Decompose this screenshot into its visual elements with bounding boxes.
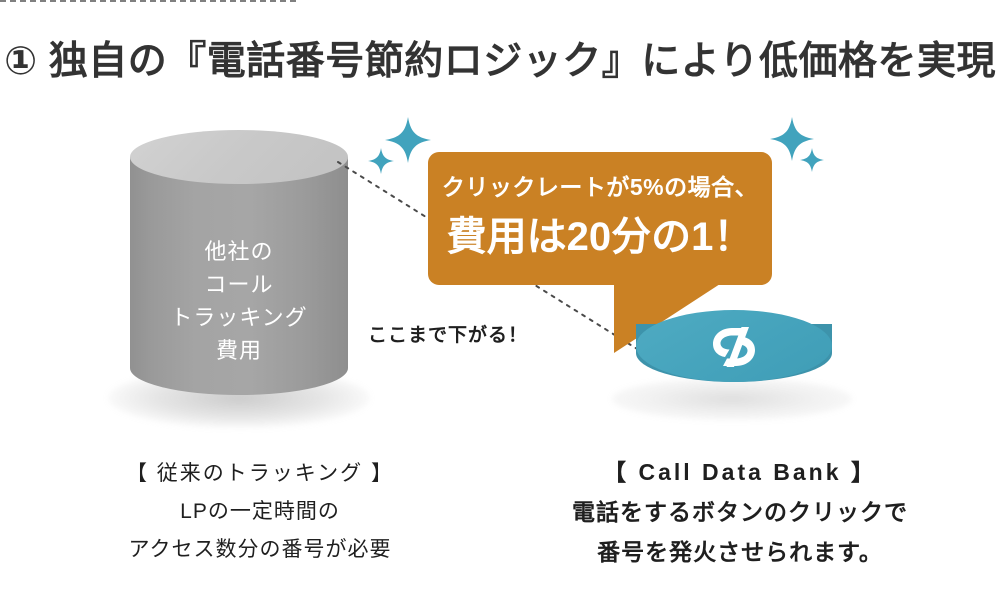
caption-right-line-1: 電話をするボタンのクリックで <box>530 492 950 532</box>
caption-left-line-1: LPの一定時間の <box>50 493 470 531</box>
cylinder-label-line-3: トラッキング <box>130 301 348 334</box>
cylinder-label-line-1: 他社の <box>130 235 348 268</box>
caption-right-line-2: 番号を発火させられます。 <box>530 532 950 572</box>
speech-bubble-line-1: クリックレートが5%の場合、 <box>428 168 772 202</box>
caption-left-head: 【 従来のトラッキング 】 <box>50 455 470 493</box>
call-data-bank-logo <box>708 325 760 369</box>
cylinder-label: 他社の コール トラッキング 費用 <box>130 235 348 367</box>
caption-left-line-2: アクセス数分の番号が必要 <box>50 531 470 569</box>
connector-line-horizontal <box>0 0 296 2</box>
competitor-cost-cylinder: 他社の コール トラッキング 費用 <box>130 130 348 395</box>
caption-right: 【 Call Data Bank 】 電話をするボタンのクリックで 番号を発火さ… <box>530 452 950 572</box>
caption-left: 【 従来のトラッキング 】 LPの一定時間の アクセス数分の番号が必要 <box>50 455 470 569</box>
caption-right-head: 【 Call Data Bank 】 <box>530 452 950 492</box>
sparkle-small-left <box>368 148 394 174</box>
speech-bubble: クリックレートが5%の場合、 費用は20分の1！ <box>428 152 772 285</box>
page-title: ① 独自の『電話番号節約ロジック』により低価格を実現 <box>0 30 1000 86</box>
speech-bubble-line-2: 費用は20分の1！ <box>428 204 772 262</box>
mid-note-label: ここまで下がる！ <box>368 320 528 347</box>
cylinder-label-line-4: 費用 <box>130 334 348 367</box>
cylinder-top-ellipse <box>130 130 348 184</box>
sparkle-small-right <box>800 148 824 172</box>
cylinder-label-line-2: コール <box>130 268 348 301</box>
call-data-bank-disc <box>636 310 832 402</box>
slide-canvas: ① 独自の『電話番号節約ロジック』により低価格を実現 他社の コール トラッキン… <box>0 0 1000 600</box>
